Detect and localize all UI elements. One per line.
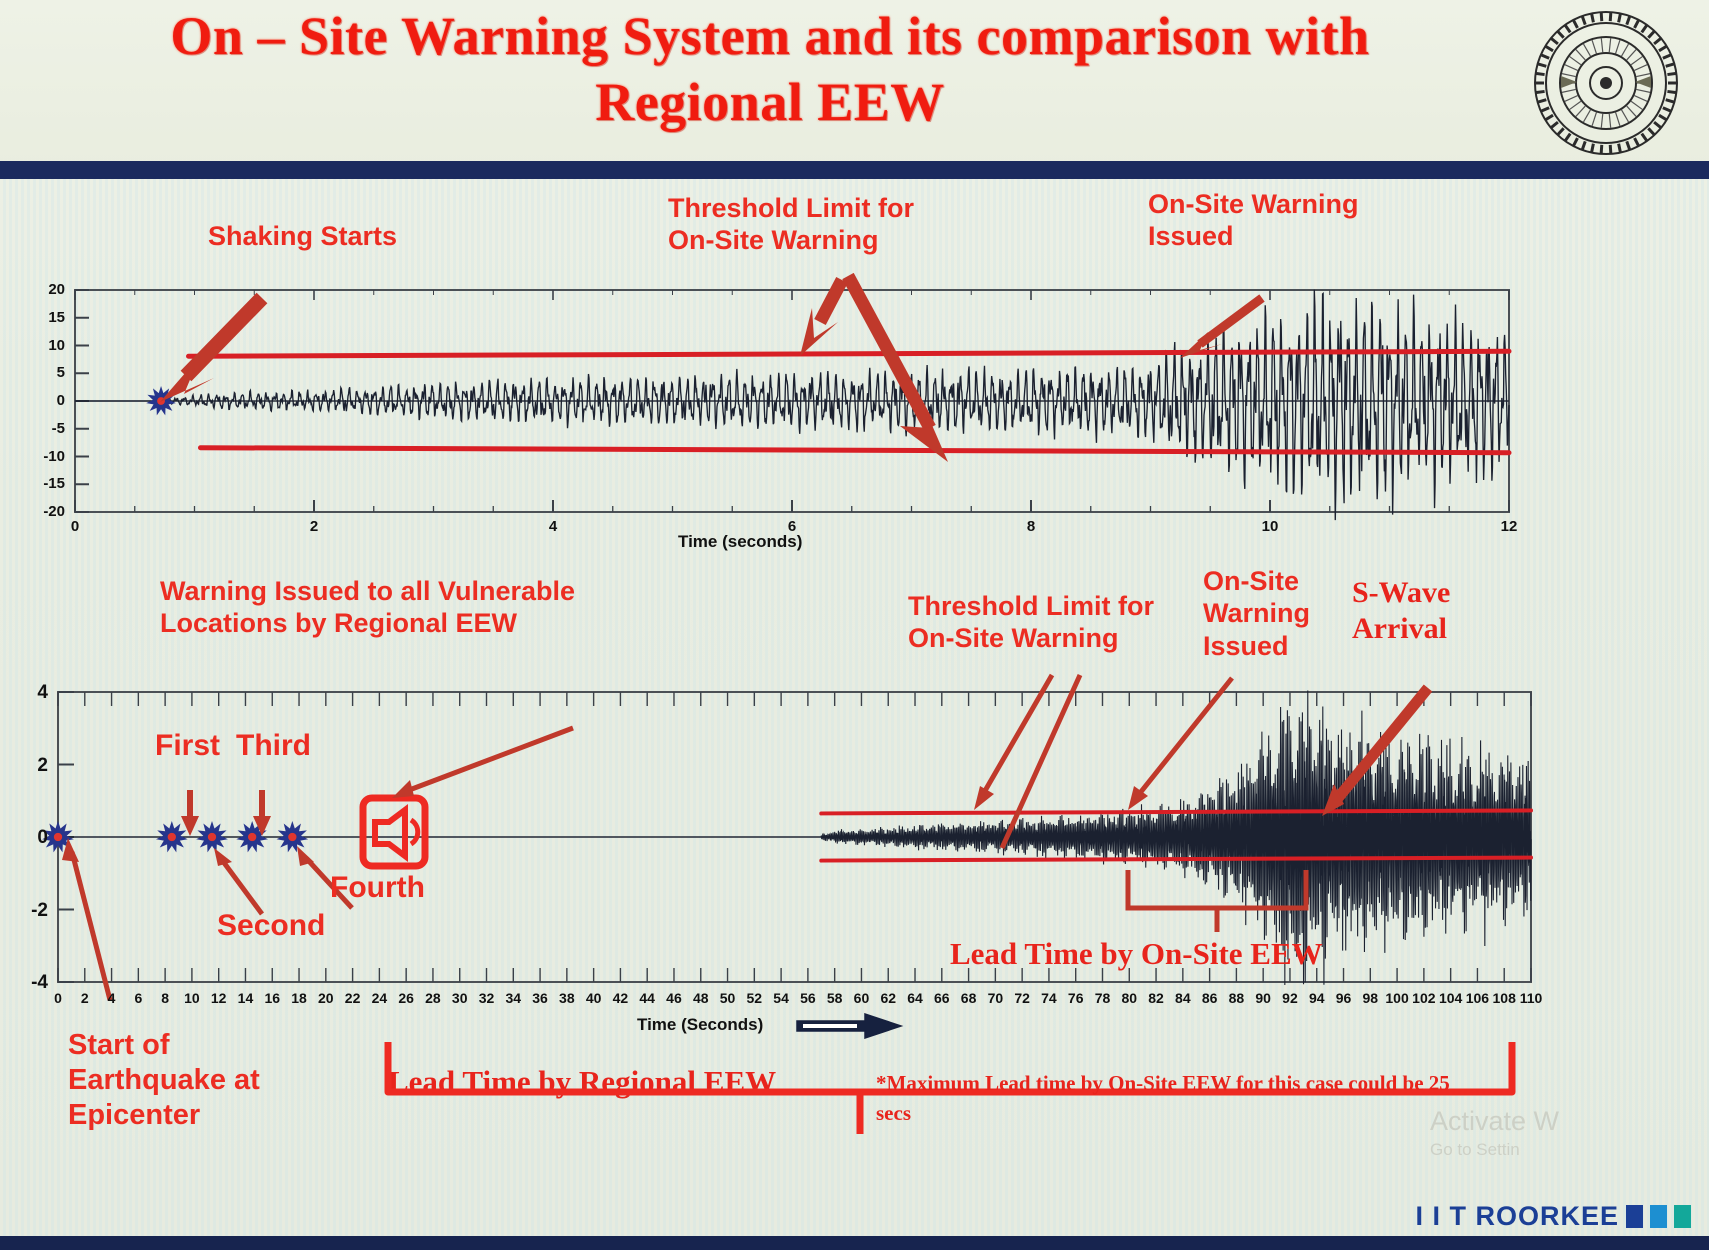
time-direction-arrow-icon (795, 1013, 905, 1039)
brand-square-3 (1674, 1205, 1691, 1228)
bottom-chart-xlabel: Time (Seconds) (637, 1015, 763, 1035)
threshold-arrow-down (848, 276, 948, 462)
start-of-earthquake: Start of Earthquake at Epicenter (68, 1028, 260, 1132)
first-event: First (155, 728, 220, 764)
shaking-starts: Shaking Starts (208, 220, 397, 252)
page-title: On – Site Warning System and its compari… (150, 4, 1390, 136)
s-wave-arrival: S-Wave Arrival (1352, 575, 1450, 647)
top-chart-xtick: 6 (772, 518, 812, 535)
regional-warning-arrow (392, 728, 573, 798)
top-chart-ytick: -10 (31, 448, 65, 465)
first-arrow (181, 790, 199, 836)
footer-band (0, 1236, 1709, 1250)
regional-warning-issued: Warning Issued to all Vulnerable Locatio… (160, 575, 575, 640)
onsite-warning-issued-top: On-Site Warning Issued (1148, 188, 1359, 253)
bottom-chart-xtick: 110 (1515, 990, 1547, 1006)
bottom-chart-ytick: 2 (14, 755, 48, 777)
second-arrow (214, 848, 262, 914)
top-chart-xtick: 10 (1250, 518, 1290, 535)
top-chart-xtick: 4 (533, 518, 573, 535)
top-chart-ytick: 5 (31, 364, 65, 381)
top-chart-xtick: 12 (1489, 518, 1529, 535)
top-chart-ytick: 0 (31, 392, 65, 409)
top-chart-ytick: -15 (31, 475, 65, 492)
windows-activation-watermark: Activate W Go to Settin (1430, 1105, 1559, 1160)
top-chart-xtick: 2 (294, 518, 334, 535)
top-chart-ytick: 15 (31, 309, 65, 326)
top-chart-ytick: 20 (31, 281, 65, 298)
top-chart-xlabel: Time (seconds) (678, 532, 802, 552)
threshold-limit-bottom: Threshold Limit for On-Site Warning (908, 590, 1154, 655)
bottom-chart-ytick: -2 (14, 900, 48, 922)
watermark-line-1: Activate W (1430, 1105, 1559, 1139)
onsite-warning-arrow-bottom (1128, 678, 1232, 810)
iit-roorkee-brand-text: I I T ROORKEE (1415, 1201, 1619, 1232)
onsite-warning-issued-bottom: On-Site Warning Issued (1203, 565, 1310, 662)
iit-roorkee-brand: I I T ROORKEE (1415, 1201, 1691, 1232)
top-chart-xtick: 0 (55, 518, 95, 535)
top-chart-ytick: 10 (31, 337, 65, 354)
second-event: Second (217, 908, 325, 944)
start-of-earthquake-arrow (62, 838, 110, 1000)
slide-header: On – Site Warning System and its compari… (0, 0, 1709, 179)
third-event: Third (236, 728, 311, 764)
lead-time-onsite: Lead Time by On-Site EEW (950, 935, 1323, 972)
threshold-arrow-top (800, 280, 842, 356)
top-chart-xtick: 8 (1011, 518, 1051, 535)
watermark-line-2: Go to Settin (1430, 1139, 1559, 1160)
fourth-event: Fourth (330, 870, 425, 906)
shaking-starts-arrow (160, 298, 262, 402)
threshold-limit-top: Threshold Limit for On-Site Warning (668, 192, 914, 257)
top-chart-ytick: -5 (31, 420, 65, 437)
footnote: *Maximum Lead time by On-Site EEW for th… (876, 1068, 1476, 1129)
brand-square-2 (1650, 1205, 1667, 1228)
regional-eew-broadcast-icon (363, 798, 425, 866)
bottom-chart-ytick: 4 (14, 682, 48, 704)
iit-roorkee-emblem-icon (1531, 8, 1681, 158)
threshold-arrow-bottom (974, 675, 1052, 810)
bottom-chart-ytick: 0 (14, 827, 48, 849)
brand-square-1 (1626, 1205, 1643, 1228)
slide-root: On – Site Warning System and its compari… (0, 0, 1709, 1250)
